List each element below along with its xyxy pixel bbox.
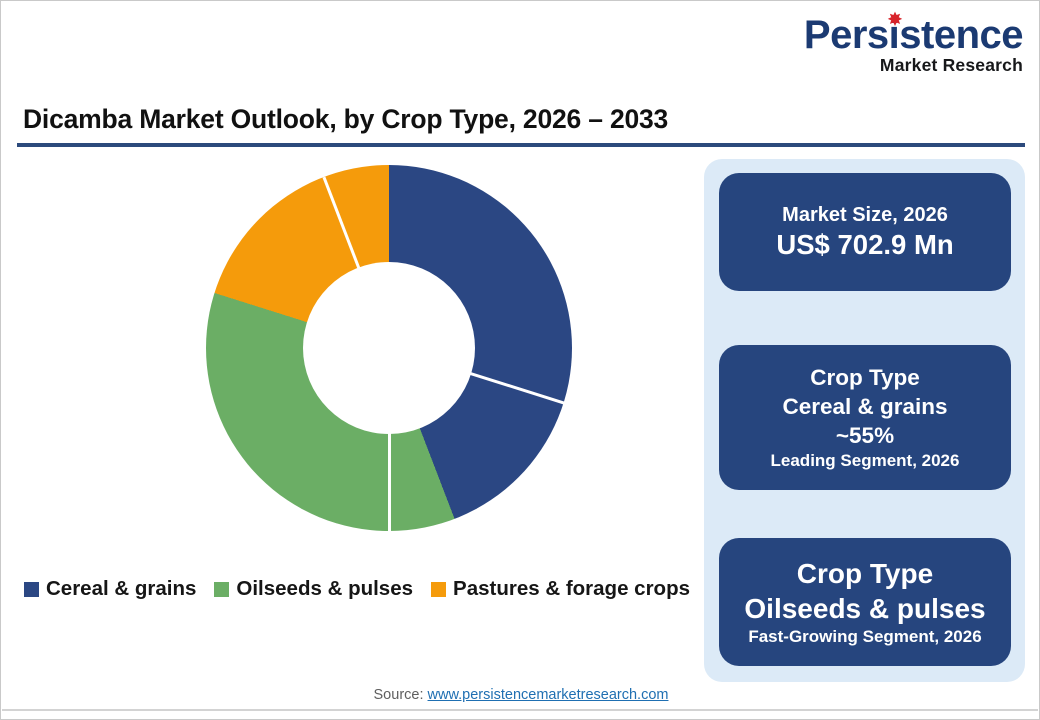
footer-divider <box>2 709 1038 711</box>
legend-item-label: Oilseeds & pulses <box>236 577 413 601</box>
star-icon: ✸ <box>888 11 902 28</box>
card-leading-segment-caption: Leading Segment, 2026 <box>771 450 960 472</box>
donut-chart <box>206 165 572 531</box>
chart-area <box>17 156 697 556</box>
card-market-size-value: US$ 702.9 Mn <box>776 228 953 262</box>
chart-legend: Cereal & grainsOilseeds & pulsesPastures… <box>17 577 697 601</box>
legend-swatch-icon <box>214 582 229 597</box>
logo-main-text: Persistence <box>804 13 1023 57</box>
source-label: Source: <box>374 687 424 703</box>
card-leading-segment-title: Crop Type <box>810 363 920 392</box>
card-fast-growing-segment: Crop Type Oilseeds & pulses Fast-Growing… <box>719 538 1011 666</box>
source-link[interactable]: www.persistencemarketresearch.com <box>428 687 669 703</box>
card-fast-growing-title: Crop Type <box>797 556 933 591</box>
card-leading-segment: Crop Type Cereal & grains ~55% Leading S… <box>719 345 1011 490</box>
legend-swatch-icon <box>24 582 39 597</box>
page-title: Dicamba Market Outlook, by Crop Type, 20… <box>23 104 668 135</box>
legend-swatch-icon <box>431 582 446 597</box>
infographic-canvas: Persistence ✸ Market Research Dicamba Ma… <box>0 0 1040 720</box>
brand-logo: Persistence ✸ Market Research <box>793 15 1023 75</box>
legend-item-label: Pastures & forage crops <box>453 577 690 601</box>
card-leading-segment-share: ~55% <box>836 421 894 450</box>
logo-wordmark: Persistence ✸ <box>804 15 1023 55</box>
logo-tagline: Market Research <box>793 57 1023 75</box>
card-market-size-label: Market Size, 2026 <box>782 203 948 228</box>
source-line: Source: www.persistencemarketresearch.co… <box>1 687 1040 703</box>
title-divider <box>17 143 1025 147</box>
legend-item-label: Cereal & grains <box>46 577 196 601</box>
card-leading-segment-name: Cereal & grains <box>782 392 947 421</box>
legend-item[interactable]: Cereal & grains <box>24 577 196 601</box>
card-market-size: Market Size, 2026 US$ 702.9 Mn <box>719 173 1011 291</box>
card-fast-growing-caption: Fast-Growing Segment, 2026 <box>748 626 981 648</box>
legend-item[interactable]: Oilseeds & pulses <box>214 577 413 601</box>
donut-center-hole <box>303 262 475 434</box>
legend-item[interactable]: Pastures & forage crops <box>431 577 690 601</box>
card-fast-growing-name: Oilseeds & pulses <box>744 591 985 626</box>
